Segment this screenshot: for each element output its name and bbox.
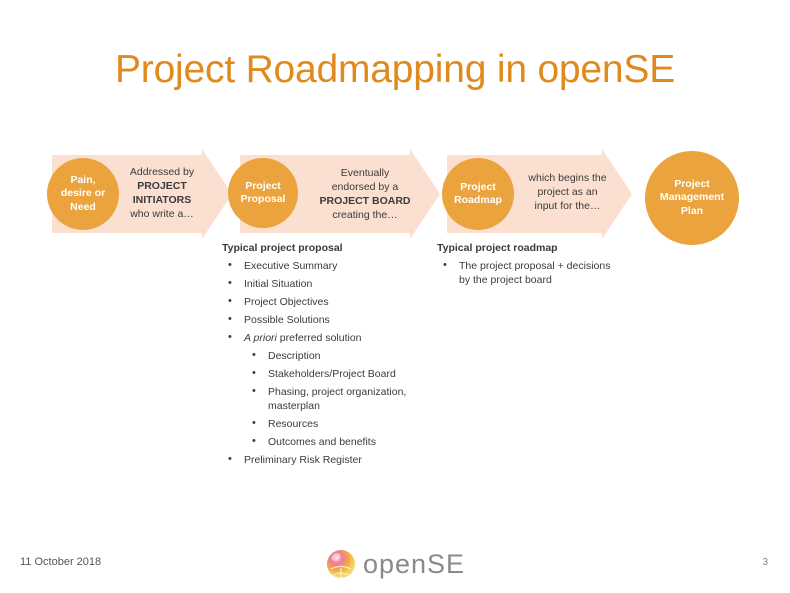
edge-label-1-line2: PROJECT xyxy=(112,179,212,193)
opense-logo: openSE xyxy=(325,548,465,580)
flow-node-pain[interactable]: Pain, desire or Need xyxy=(47,158,119,230)
flow-node-project-roadmap[interactable]: Project Roadmap xyxy=(442,158,514,230)
roadmap-flow-diagram: Pain, desire or Need Addressed by PROJEC… xyxy=(0,0,790,260)
a-priori-italic: A priori xyxy=(244,332,277,344)
flow-node-project-management-plan-label: Project Management Plan xyxy=(660,178,724,218)
flow-node-project-proposal-label: Project Proposal xyxy=(241,180,286,207)
edge-label-2-line4: creating the… xyxy=(306,208,424,222)
edge-label-2-line3: PROJECT BOARD xyxy=(306,194,424,208)
edge-label-2: Eventually endorsed by a PROJECT BOARD c… xyxy=(306,166,424,222)
sub-list-item: Outcomes and benefits xyxy=(244,435,432,449)
list-item: The project proposal + decisions by the … xyxy=(437,259,612,288)
detail-project-proposal-list: Executive Summary Initial Situation Proj… xyxy=(222,259,432,468)
edge-label-2-line2: endorsed by a xyxy=(306,180,424,194)
sub-list-item: Description xyxy=(244,349,432,363)
edge-label-3: which begins the project as an input for… xyxy=(515,171,620,213)
edge-label-2-line1: Eventually xyxy=(306,166,424,180)
edge-label-1: Addressed by PROJECT INITIATORS who writ… xyxy=(112,165,212,221)
detail-project-roadmap-heading: Typical project roadmap xyxy=(437,241,612,255)
list-item: Initial Situation xyxy=(222,277,432,291)
list-item-a-priori: A priori preferred solution Description … xyxy=(222,331,432,450)
a-priori-rest: preferred solution xyxy=(277,332,362,344)
flow-node-project-roadmap-label: Project Roadmap xyxy=(454,181,502,208)
opense-sphere-icon xyxy=(325,548,357,580)
edge-label-3-line3: input for the… xyxy=(515,199,620,213)
sub-list-item: Phasing, project organization, masterpla… xyxy=(244,385,432,414)
edge-label-3-line1: which begins the xyxy=(515,171,620,185)
footer-page-number: 3 xyxy=(762,557,768,568)
detail-project-proposal-sublist: Description Stakeholders/Project Board P… xyxy=(244,349,432,450)
detail-project-roadmap-list: The project proposal + decisions by the … xyxy=(437,259,612,288)
flow-node-project-management-plan[interactable]: Project Management Plan xyxy=(645,151,739,245)
slide: Project Roadmapping in openSE Pain, desi… xyxy=(0,0,790,593)
detail-project-proposal: Typical project proposal Executive Summa… xyxy=(222,241,432,468)
list-item: Preliminary Risk Register xyxy=(222,453,432,467)
sub-list-item: Resources xyxy=(244,417,432,431)
edge-label-3-line2: project as an xyxy=(515,185,620,199)
list-item: Project Objectives xyxy=(222,295,432,309)
list-item: Executive Summary xyxy=(222,259,432,273)
detail-project-roadmap: Typical project roadmap The project prop… xyxy=(437,241,612,288)
detail-project-proposal-heading: Typical project proposal xyxy=(222,241,432,255)
opense-logo-text: openSE xyxy=(363,549,465,580)
sub-list-item: Stakeholders/Project Board xyxy=(244,367,432,381)
list-item: Possible Solutions xyxy=(222,313,432,327)
edge-label-1-line4: who write a… xyxy=(112,207,212,221)
edge-label-1-line1: Addressed by xyxy=(112,165,212,179)
flow-node-pain-label: Pain, desire or Need xyxy=(61,174,105,214)
footer-date: 11 October 2018 xyxy=(20,556,101,568)
flow-node-project-proposal[interactable]: Project Proposal xyxy=(228,158,298,228)
edge-label-1-line3: INITIATORS xyxy=(112,193,212,207)
